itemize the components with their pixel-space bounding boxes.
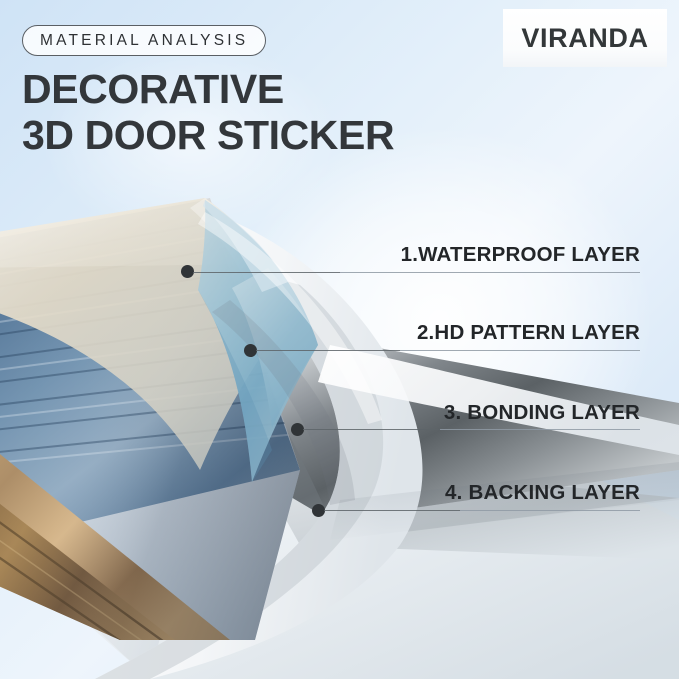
badge-label: MATERIAL ANALYSIS [40, 32, 248, 50]
callout-dot-hd-pattern-layer [244, 344, 257, 357]
callout-leader-waterproof-layer [193, 272, 340, 273]
callout-leader-bonding-layer [303, 429, 440, 430]
title-line-1: DECORATIVE [22, 66, 492, 112]
page-title: DECORATIVE 3D DOOR STICKER [22, 66, 492, 158]
callout-rule-backing-layer [460, 510, 640, 511]
callout-rule-hd-pattern-layer [400, 350, 640, 351]
callout-dot-backing-layer [312, 504, 325, 517]
callout-dot-waterproof-layer [181, 265, 194, 278]
poster-canvas: MATERIAL ANALYSIS DECORATIVE 3D DOOR STI… [0, 0, 679, 679]
callout-dot-bonding-layer [291, 423, 304, 436]
callout-leader-backing-layer [324, 510, 460, 511]
callout-leader-hd-pattern-layer [256, 350, 400, 351]
title-line-2: 3D DOOR STICKER [22, 112, 492, 158]
callout-label-waterproof-layer: 1.WATERPROOF LAYER [401, 243, 640, 267]
material-analysis-badge: MATERIAL ANALYSIS [22, 25, 266, 56]
callout-rule-waterproof-layer [340, 272, 640, 273]
callout-label-backing-layer: 4. BACKING LAYER [445, 481, 640, 505]
brand-logo: VIRANDA [503, 9, 667, 67]
brand-name: VIRANDA [521, 23, 648, 54]
callout-label-hd-pattern-layer: 2.HD PATTERN LAYER [417, 321, 640, 345]
callout-rule-bonding-layer [440, 429, 640, 430]
callout-label-bonding-layer: 3. BONDING LAYER [444, 401, 640, 425]
